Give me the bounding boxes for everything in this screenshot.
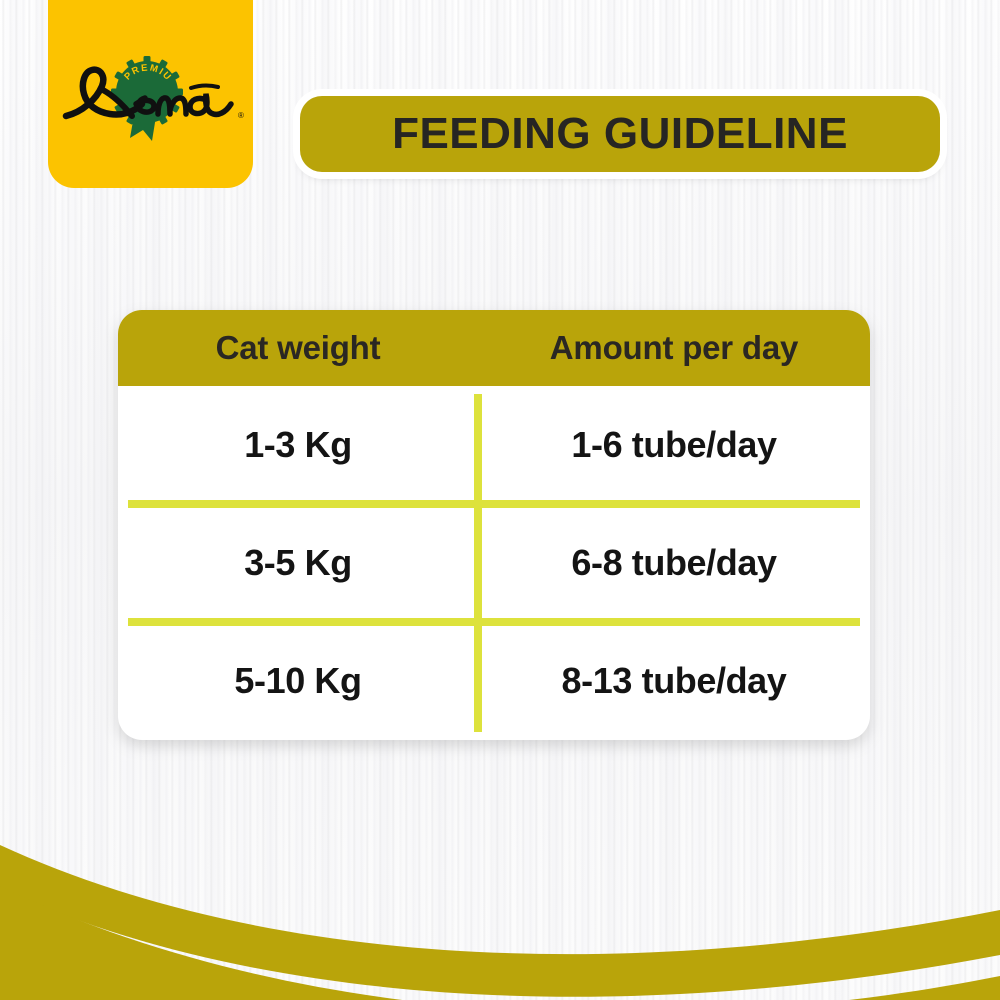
page-title: FEEDING GUIDELINE bbox=[392, 109, 848, 159]
bottom-decoration bbox=[0, 790, 1000, 1000]
brand-logo-tile: PREMIUM ® bbox=[48, 0, 253, 188]
column-header-amount-per-day: Amount per day bbox=[478, 310, 870, 386]
table-row: 5-10 Kg 8-13 tube/day bbox=[118, 622, 870, 740]
column-header-cat-weight: Cat weight bbox=[118, 310, 478, 386]
cell-cat-weight: 3-5 Kg bbox=[118, 504, 478, 622]
table-row: 3-5 Kg 6-8 tube/day bbox=[118, 504, 870, 622]
swoosh-lower bbox=[0, 886, 1000, 1000]
table-row: 1-3 Kg 1-6 tube/day bbox=[118, 386, 870, 504]
rosette-badge: PREMIUM bbox=[48, 42, 183, 141]
poster-canvas: PREMIUM ® FEEDING GUIDELINE bbox=[0, 0, 1000, 1000]
row-divider bbox=[128, 618, 860, 626]
table-header-row: Cat weight Amount per day bbox=[118, 310, 870, 386]
rena-premium-logo: PREMIUM ® bbox=[48, 42, 253, 146]
cell-cat-weight: 5-10 Kg bbox=[118, 622, 478, 740]
cell-amount-per-day: 6-8 tube/day bbox=[478, 504, 870, 622]
table-body: 1-3 Kg 1-6 tube/day 3-5 Kg 6-8 tube/day … bbox=[118, 386, 870, 740]
page-title-banner: FEEDING GUIDELINE bbox=[300, 96, 940, 172]
logo-registered-mark: ® bbox=[238, 111, 244, 120]
cell-cat-weight: 1-3 Kg bbox=[118, 386, 478, 504]
cell-amount-per-day: 8-13 tube/day bbox=[478, 622, 870, 740]
cell-amount-per-day: 1-6 tube/day bbox=[478, 386, 870, 504]
column-divider bbox=[474, 394, 482, 732]
feeding-guideline-table: Cat weight Amount per day 1-3 Kg 1-6 tub… bbox=[118, 310, 870, 740]
row-divider bbox=[128, 500, 860, 508]
swoosh-upper bbox=[0, 845, 1000, 997]
